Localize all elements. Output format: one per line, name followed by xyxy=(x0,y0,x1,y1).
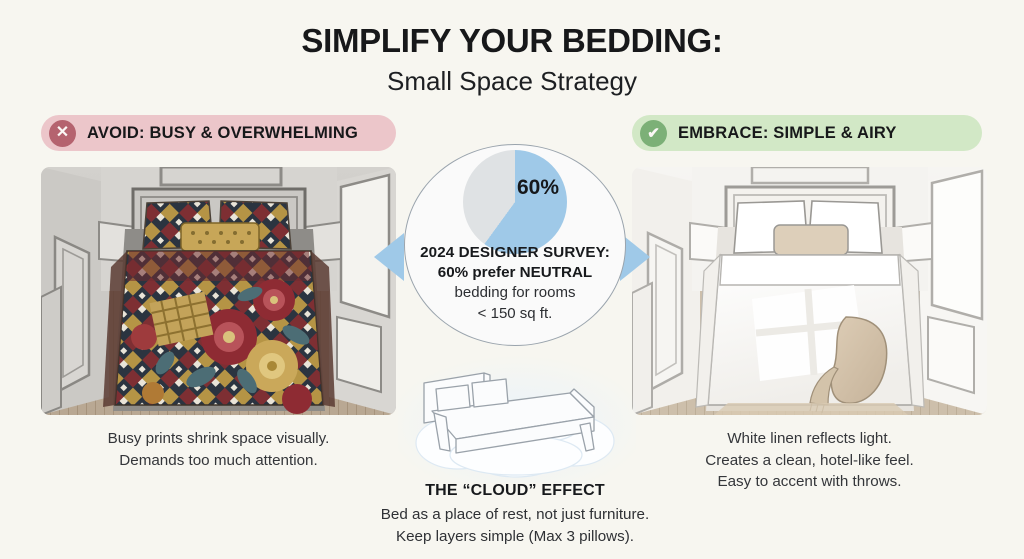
caption-embrace-line-3: Easy to accent with throws. xyxy=(632,471,987,493)
infographic-canvas: SIMPLIFY YOUR BEDDING: Small Space Strat… xyxy=(0,0,1024,559)
page-subtitle: Small Space Strategy xyxy=(0,66,1024,97)
badge-avoid: ✕ AVOID: BUSY & OVERWHELMING xyxy=(41,115,396,151)
caption-avoid-line-1: Busy prints shrink space visually. xyxy=(41,428,396,450)
cloud-effect-title: THE “CLOUD” EFFECT xyxy=(355,482,675,500)
caption-embrace-line-2: Creates a clean, hotel-like feel. xyxy=(632,450,987,472)
cloud-body-line-1: Bed as a place of rest, not just furnitu… xyxy=(335,504,695,526)
caption-embrace-line-1: White linen reflects light. xyxy=(632,428,987,450)
pie-chart xyxy=(463,150,567,254)
badge-avoid-label: AVOID: BUSY & OVERWHELMING xyxy=(87,124,358,143)
survey-line-4: < 150 sq ft. xyxy=(400,304,630,324)
cloud-effect-body: Bed as a place of rest, not just furnitu… xyxy=(335,504,695,547)
survey-line-3: bedding for rooms xyxy=(400,283,630,303)
caption-avoid: Busy prints shrink space visually. Deman… xyxy=(41,428,396,471)
caption-avoid-line-2: Demands too much attention. xyxy=(41,450,396,472)
survey-line-1: 2024 DESIGNER SURVEY: xyxy=(400,243,630,263)
cloud-body-line-2: Keep layers simple (Max 3 pillows). xyxy=(335,526,695,548)
survey-line-2: 60% prefer NEUTRAL xyxy=(400,263,630,283)
badge-embrace: ✔ EMBRACE: SIMPLE & AIRY xyxy=(632,115,982,151)
caption-embrace: White linen reflects light. Creates a cl… xyxy=(632,428,987,493)
image-white-linen-bedding xyxy=(632,167,987,415)
badge-embrace-label: EMBRACE: SIMPLE & AIRY xyxy=(678,124,897,143)
page-title: SIMPLIFY YOUR BEDDING: xyxy=(0,22,1024,60)
survey-text-block: 2024 DESIGNER SURVEY: 60% prefer NEUTRAL… xyxy=(400,243,630,324)
pie-chart-value-label: 60% xyxy=(505,176,571,200)
cloud-bed-illustration xyxy=(398,355,636,483)
x-circle-icon: ✕ xyxy=(49,120,76,147)
image-busy-bedding xyxy=(41,167,396,415)
check-circle-icon: ✔ xyxy=(640,120,667,147)
